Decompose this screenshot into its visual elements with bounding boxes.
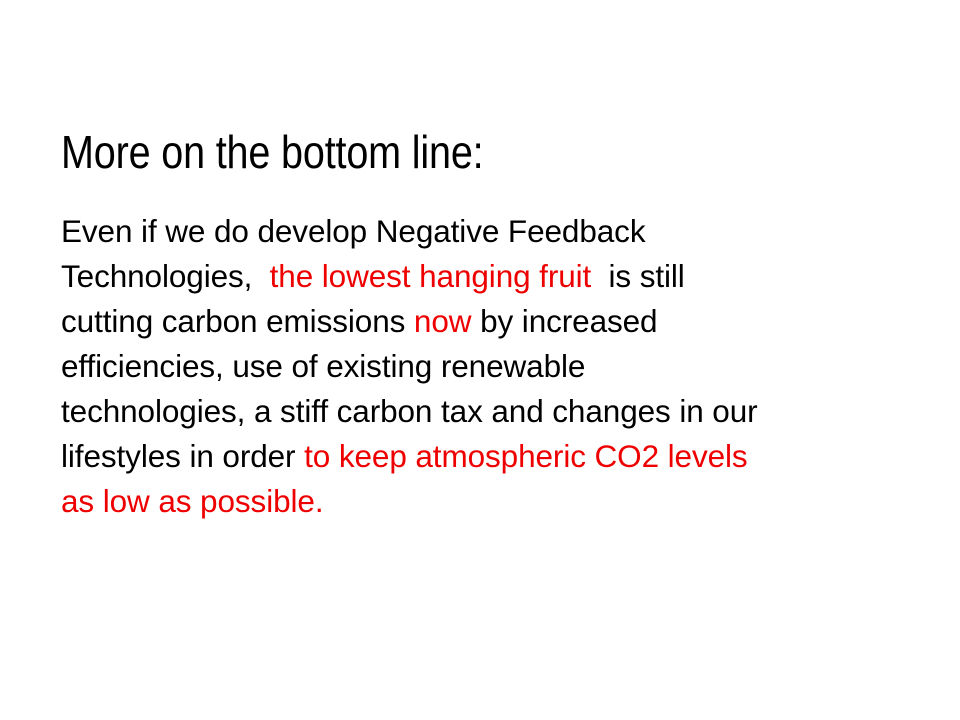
body-line: technologies, a stiff carbon tax and cha… [61, 389, 921, 434]
highlighted-text-run: the lowest hanging fruit [261, 258, 600, 294]
text-run: by increased [471, 303, 657, 339]
highlighted-text-run: to keep atmospheric CO2 levels [304, 438, 747, 474]
text-run: technologies, a stiff carbon tax and cha… [61, 393, 758, 429]
presentation-slide: More on the bottom line: Even if we do d… [0, 0, 960, 720]
highlighted-text-run: now [414, 303, 472, 339]
body-line: lifestyles in order to keep atmospheric … [61, 434, 921, 479]
text-run: Even if we do develop Negative Feedback [61, 213, 645, 249]
body-line: cutting carbon emissions now by increase… [61, 299, 921, 344]
text-run: is still [600, 258, 685, 294]
body-line: Technologies, the lowest hanging fruit i… [61, 254, 921, 299]
page-title: More on the bottom line: [61, 125, 783, 179]
text-run: Technologies, [61, 258, 261, 294]
body-line: as low as possible. [61, 479, 921, 524]
body-line: efficiencies, use of existing renewable [61, 344, 921, 389]
text-run: lifestyles in order [61, 438, 304, 474]
slide-body-text: Even if we do develop Negative FeedbackT… [61, 209, 921, 524]
text-run: efficiencies, use of existing renewable [61, 348, 585, 384]
text-run: cutting carbon emissions [61, 303, 414, 339]
body-line: Even if we do develop Negative Feedback [61, 209, 921, 254]
highlighted-text-run: as low as possible. [61, 483, 323, 519]
